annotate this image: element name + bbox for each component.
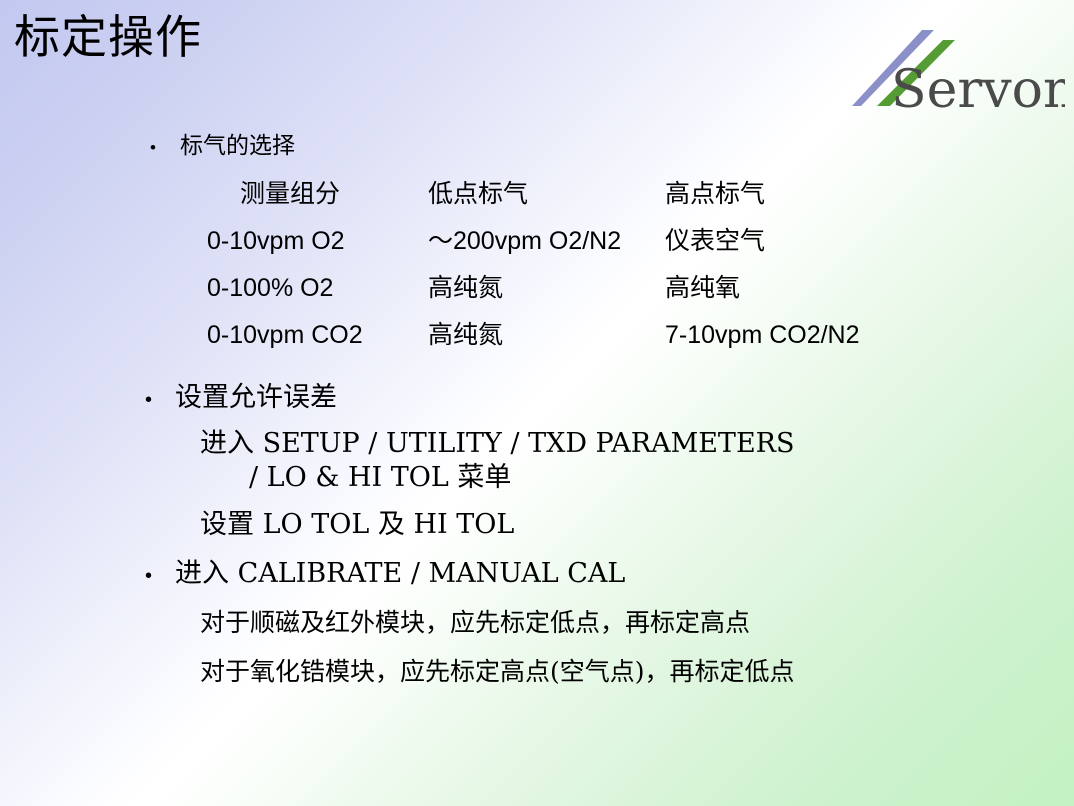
table-row: 0-10vpm O2 ～200vpm O2/N2 仪表空气	[0, 225, 1074, 272]
table-header-row: 测量组分 低点标气 高点标气	[0, 178, 1074, 225]
bullet-item-gas-selection: • 标气的选择	[150, 131, 295, 161]
tolerance-path-line-1: 进入 SETUP / UTILITY / TXD PARAMETERS	[200, 427, 794, 461]
calibration-gas-table: 测量组分 低点标气 高点标气 0-10vpm O2 ～200vpm O2/N2 …	[0, 178, 1074, 366]
table-header-low-gas: 低点标气	[428, 178, 528, 210]
cal-note-zirconia: 对于氧化锆模块，应先标定高点(空气点)，再标定低点	[200, 655, 795, 689]
tolerance-set-line: 设置 LO TOL 及 HI TOL	[200, 508, 514, 542]
table-cell-component: 0-100% O2	[207, 272, 333, 304]
bullet-label-set-tolerance: 设置允许误差	[175, 380, 337, 416]
table-cell-component: 0-10vpm CO2	[207, 319, 363, 351]
bullet-item-manual-cal: • 进入 CALIBRATE / MANUAL CAL	[145, 556, 625, 592]
bullet-item-set-tolerance: • 设置允许误差	[145, 380, 337, 416]
bullet-label-manual-cal: 进入 CALIBRATE / MANUAL CAL	[175, 556, 625, 592]
table-header-measured-component: 测量组分	[240, 178, 340, 210]
table-cell-high-gas: 高纯氧	[665, 272, 740, 304]
table-cell-low-gas: 高纯氮	[428, 272, 503, 304]
bullet-dot-icon: •	[150, 139, 180, 156]
table-cell-component: 0-10vpm O2	[207, 225, 345, 257]
bullet-dot-icon: •	[145, 390, 175, 410]
table-row: 0-100% O2 高纯氮 高纯氧	[0, 272, 1074, 319]
table-cell-low-gas: 高纯氮	[428, 319, 503, 351]
table-cell-high-gas: 仪表空气	[665, 225, 765, 257]
slide: 标定操作 Servomex • 标气的选择 测量组分 低点标气 高点标气 0	[0, 0, 1074, 806]
table-cell-high-gas: 7-10vpm CO2/N2	[665, 319, 860, 351]
tolerance-path-line-2: / LO & HI TOL 菜单	[249, 461, 511, 495]
table-header-high-gas: 高点标气	[665, 178, 765, 210]
table-row: 0-10vpm CO2 高纯氮 7-10vpm CO2/N2	[0, 319, 1074, 366]
bullet-dot-icon: •	[145, 566, 175, 586]
cal-note-paramagnetic-infrared: 对于顺磁及红外模块，应先标定低点，再标定高点	[200, 606, 750, 640]
table-cell-low-gas: ～200vpm O2/N2	[428, 225, 621, 257]
bullet-label-gas-selection: 标气的选择	[180, 131, 295, 161]
slide-body: • 标气的选择 测量组分 低点标气 高点标气 0-10vpm O2 ～200vp…	[0, 0, 1074, 806]
